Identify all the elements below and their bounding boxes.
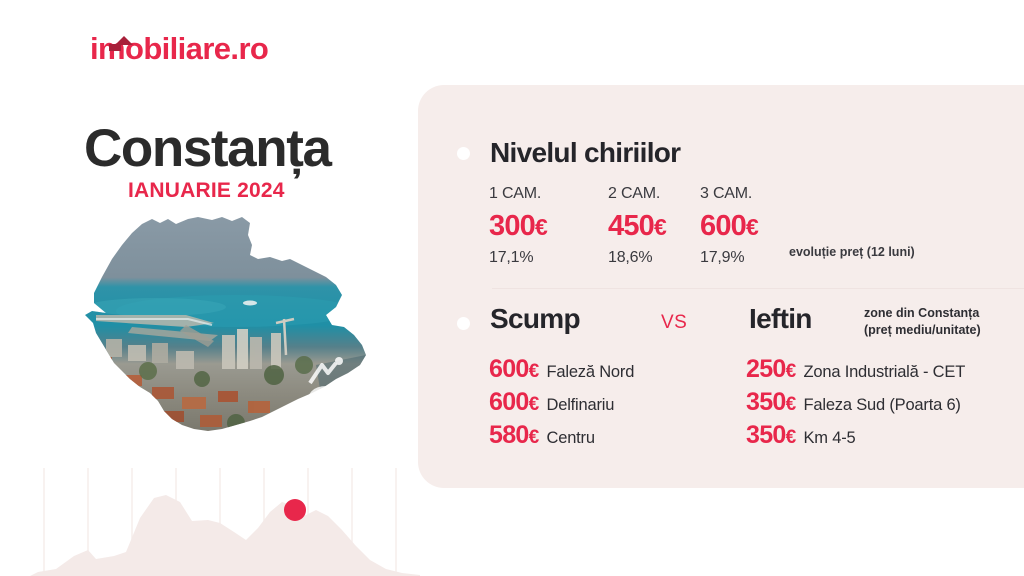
currency-symbol: € [529, 394, 539, 415]
zone-price-value: 250 [746, 355, 786, 383]
romania-map-photo-fill: C [36, 215, 396, 455]
zone-name: Faleză Nord [547, 364, 635, 381]
expensive-section-title: Scump [490, 305, 580, 333]
zone-price: 250€ [746, 357, 796, 382]
list-item: 580€ Centru [489, 423, 634, 456]
chart-marker-dot [284, 499, 306, 521]
house-body-icon [109, 44, 121, 51]
expensive-zone-list: 600€ Faleză Nord 600€ Delfinariu 580€ Ce… [489, 357, 634, 456]
price-evolution-decor-chart [30, 468, 420, 576]
vs-label: VS [661, 313, 687, 332]
rent-column: 3 CAM. 600€ 17,9% [700, 186, 758, 266]
rent-column: 2 CAM. 450€ 18,6% [608, 186, 666, 266]
currency-symbol: € [746, 214, 758, 240]
report-period: IANUARIE 2024 [128, 180, 285, 201]
zone-price-value: 600 [489, 355, 529, 383]
rent-price: 450€ [608, 212, 666, 241]
currency-symbol: € [529, 427, 539, 448]
zone-price-value: 350 [746, 421, 786, 449]
section-bullet-compare [457, 317, 470, 330]
rent-price-value: 600 [700, 210, 746, 242]
zone-price: 600€ [489, 357, 539, 382]
rent-column: 1 CAM. 300€ 17,1% [489, 186, 547, 266]
brand-logo[interactable]: imobiliare.ro [90, 33, 268, 64]
zones-note: zone din Constanța (preț mediu/unitate) [864, 305, 981, 339]
rent-change: 17,9% [700, 250, 758, 266]
rent-price-value: 300 [489, 210, 535, 242]
zone-name: Zona Industrială - CET [804, 364, 966, 381]
list-item: 600€ Faleză Nord [489, 357, 634, 390]
rent-room-label: 1 CAM. [489, 186, 547, 202]
rent-evolution-note: evoluție preț (12 luni) [789, 246, 915, 259]
zone-name: Centru [547, 430, 595, 447]
currency-symbol: € [786, 394, 796, 415]
rent-change: 17,1% [489, 250, 547, 266]
rent-room-label: 2 CAM. [608, 186, 666, 202]
zone-price: 600€ [489, 390, 539, 415]
currency-symbol: € [786, 427, 796, 448]
page-title: Constanța [84, 122, 331, 175]
zones-note-line1: zone din Constanța [864, 305, 981, 322]
zones-note-line2: (preț mediu/unitate) [864, 322, 981, 339]
rent-room-label: 3 CAM. [700, 186, 758, 202]
rent-price: 300€ [489, 212, 547, 241]
currency-symbol: € [786, 361, 796, 382]
zone-price: 350€ [746, 423, 796, 448]
rent-price: 600€ [700, 212, 758, 241]
zone-price: 350€ [746, 390, 796, 415]
zone-name: Km 4-5 [804, 430, 856, 447]
currency-symbol: € [535, 214, 547, 240]
zone-name: Delfinariu [547, 397, 615, 414]
rent-section-title: Nivelul chiriilor [490, 139, 680, 167]
zone-name: Faleza Sud (Poarta 6) [804, 397, 961, 414]
zone-price-value: 350 [746, 388, 786, 416]
section-bullet-rent [457, 147, 470, 160]
rent-price-value: 450 [608, 210, 654, 242]
rent-change: 18,6% [608, 250, 666, 266]
svg-text:C: C [304, 375, 346, 440]
cheap-section-title: Ieftin [749, 305, 812, 333]
currency-symbol: € [654, 214, 666, 240]
section-divider [492, 288, 1024, 289]
zone-price: 580€ [489, 423, 539, 448]
currency-symbol: € [529, 361, 539, 382]
list-item: 600€ Delfinariu [489, 390, 634, 423]
cheap-zone-list: 250€ Zona Industrială - CET 350€ Faleza … [746, 357, 965, 456]
zone-price-value: 580 [489, 421, 529, 449]
list-item: 350€ Faleza Sud (Poarta 6) [746, 390, 965, 423]
zone-price-value: 600 [489, 388, 529, 416]
list-item: 250€ Zona Industrială - CET [746, 357, 965, 390]
list-item: 350€ Km 4-5 [746, 423, 965, 456]
